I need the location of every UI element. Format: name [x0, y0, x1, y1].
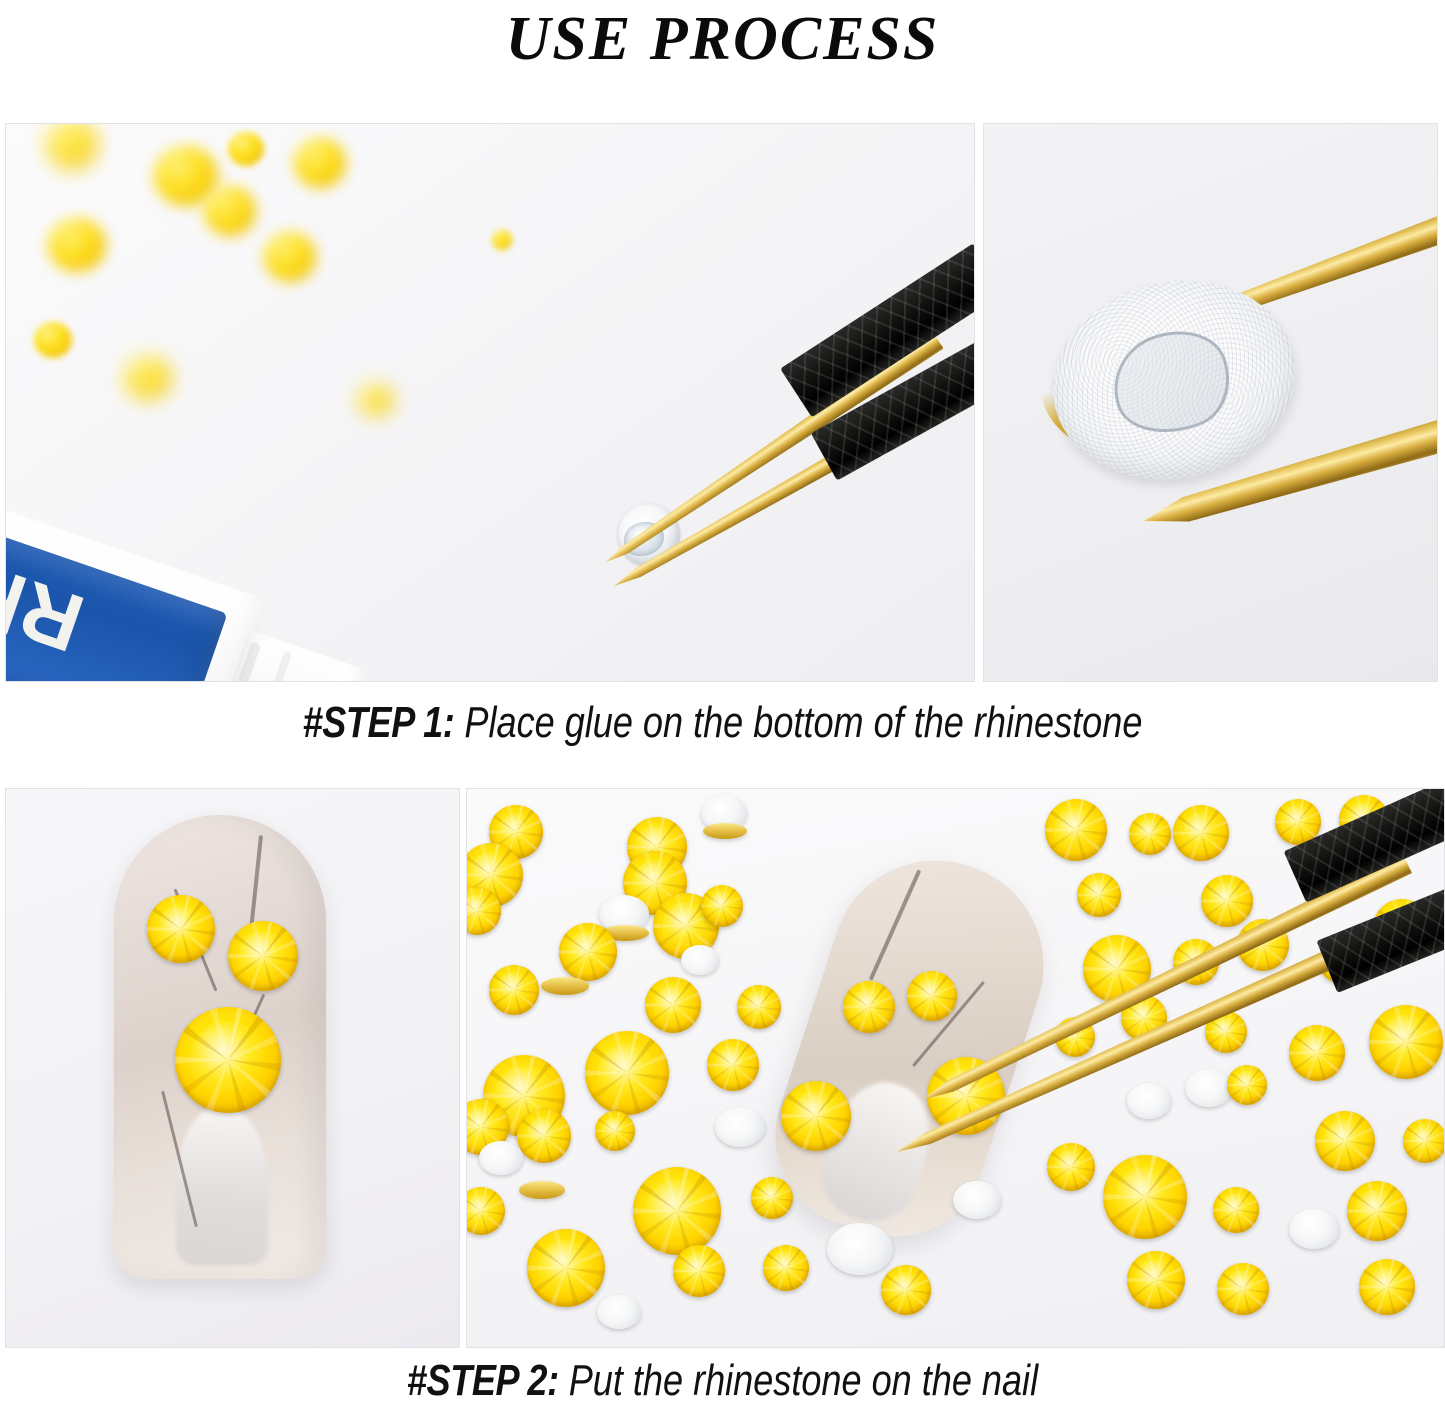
rhinestone-scatter [527, 1229, 605, 1307]
step2-decorated-nail-photo [5, 788, 460, 1348]
rhinestone-flat-back [1034, 259, 1313, 501]
glue-smear [1099, 315, 1244, 449]
rhinestone-on-nail [843, 981, 895, 1033]
glue-bottle-body: Rhin Glu [5, 483, 268, 682]
blurred-rhinestone [48, 218, 106, 272]
rhinestone-scatter [1047, 1143, 1095, 1191]
rhinestone-scatter [1315, 1111, 1375, 1171]
blurred-rhinestone [124, 356, 172, 400]
rhinestone-scatter [881, 1265, 931, 1315]
rhinestone-scatter [517, 1109, 571, 1163]
rhinestone-glue-bottle: Rhin Glu [5, 462, 540, 682]
blurred-rhinestone [492, 230, 512, 250]
rhinestone-flat-back-up [953, 1181, 1001, 1219]
rhinestone-scatter [1347, 1181, 1407, 1241]
rhinestone-scatter [673, 1245, 725, 1297]
rhinestone-scatter [1201, 875, 1253, 927]
infographic-page: USE PROCESS Rhin Glu [0, 0, 1445, 1412]
rhinestone-scatter [1127, 1251, 1185, 1309]
rhinestone-small [147, 895, 215, 963]
rhinestone-scatter [1227, 1065, 1267, 1105]
glue-label-line1: Rhin [5, 520, 95, 669]
page-title: USE PROCESS [0, 2, 1445, 76]
rhinestone-scatter [1213, 1187, 1259, 1233]
step2-caption: #STEP 2: Put the rhinestone on the nail [130, 1356, 1315, 1406]
blurred-rhinestone [294, 138, 346, 188]
rhinestone-on-nail [907, 971, 957, 1021]
rhinestone-scatter [1103, 1155, 1187, 1239]
rhinestone-flat-back-up [715, 1107, 765, 1147]
blurred-rhinestone [46, 123, 98, 170]
rhinestone-scatter [781, 1081, 851, 1151]
rhinestone-scatter [1369, 1005, 1443, 1079]
rhinestone-flat-back-up [479, 1141, 523, 1175]
rhinestone-scatter [645, 977, 701, 1033]
rhinestone-scatter [1217, 1263, 1269, 1315]
rhinestone-scatter [633, 1167, 721, 1255]
rhinestone-scatter [585, 1031, 669, 1115]
rhinestone-large [175, 1007, 281, 1113]
rhinestone-gold-back [519, 1181, 565, 1199]
rhinestone-flat-back-up [1185, 1069, 1233, 1107]
rhinestone-scatter [763, 1245, 809, 1291]
glue-bottle-label: Rhin Glu [5, 506, 227, 682]
step2-applying-rhinestone-photo [466, 788, 1445, 1348]
rhinestone-gold-back [541, 977, 589, 995]
rhinestone-flat-back-up [827, 1223, 893, 1275]
rhinestone-scatter [595, 1111, 635, 1151]
rhinestone-gold-back [703, 823, 747, 839]
rhinestone-flat-back-up [1289, 1209, 1339, 1249]
rhinestone-scatter [737, 985, 781, 1029]
step1-caption: #STEP 1: Place glue on the bottom of the… [130, 698, 1315, 748]
blurred-rhinestone [358, 384, 394, 416]
rhinestone-scatter [559, 923, 617, 981]
rhinestone-flat-back-up [681, 945, 719, 975]
rhinestone-scatter [466, 1187, 505, 1235]
step2-text: Put the rhinestone on the nail [569, 1356, 1038, 1405]
step1-label: #STEP 1: [303, 698, 455, 747]
rhinestone-flat-back-up [1127, 1083, 1171, 1119]
rhinestone-scatter [489, 965, 539, 1015]
rhinestone-scatter [751, 1177, 793, 1219]
rhinestone-flat-back-up [597, 1295, 641, 1329]
rhinestone-scatter [1359, 1259, 1415, 1315]
rhinestone-scatter [1045, 799, 1107, 861]
blurred-rhinestone [228, 132, 264, 166]
rhinestone-scatter [1173, 805, 1229, 861]
rhinestone-scatter [707, 1039, 759, 1091]
step2-label: #STEP 2: [407, 1356, 559, 1405]
tweezer-arm-upper [600, 330, 944, 572]
rhinestone-scatter [1403, 1119, 1445, 1163]
step1-rhinestone-closeup-photo [983, 123, 1438, 682]
rhinestone-scatter [1289, 1025, 1345, 1081]
rhinestone-scatter [1129, 813, 1171, 855]
step1-glue-application-photo: Rhin Glu [5, 123, 975, 682]
rhinestone-medium [228, 921, 298, 991]
rhinestone-scatter [701, 885, 743, 927]
rhinestone-scatter [1077, 873, 1121, 917]
blurred-rhinestone [34, 322, 72, 358]
blurred-rhinestone [204, 186, 256, 236]
step1-text: Place glue on the bottom of the rhinesto… [464, 698, 1142, 747]
blurred-rhinestone [264, 232, 316, 282]
